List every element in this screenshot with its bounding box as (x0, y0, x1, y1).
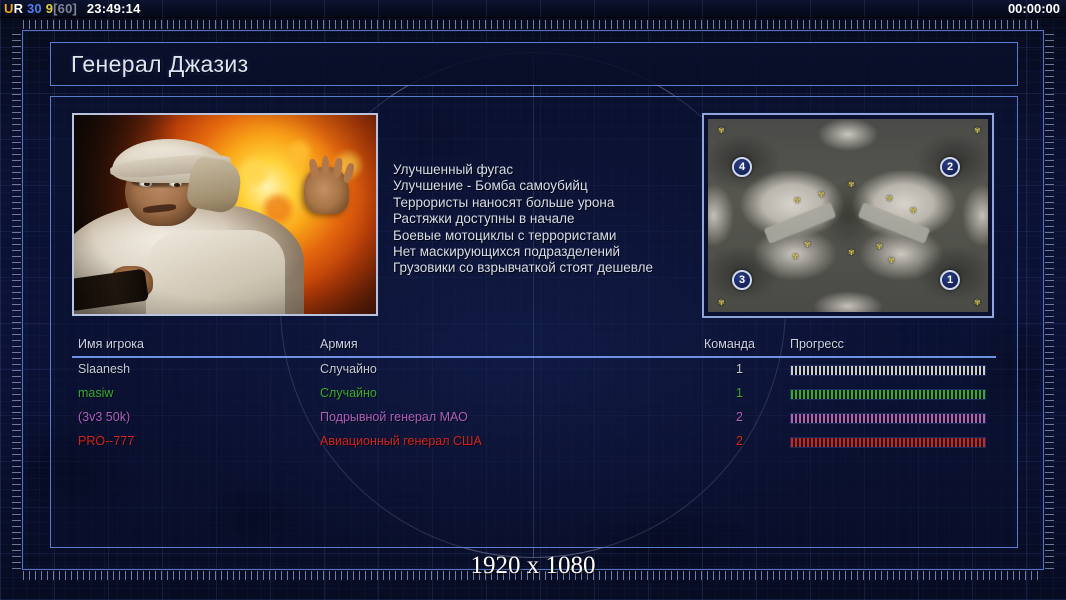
player-row[interactable]: masiwСлучайно1 (72, 382, 996, 406)
player-list-header: Имя игрока Армия Команда Прогресс (72, 336, 996, 358)
supply-icon: ✾ (886, 195, 893, 203)
status-number-30: 30 (27, 1, 42, 16)
page-title: Генерал Джазиз (51, 51, 249, 78)
supply-icon: ✾ (818, 191, 825, 199)
resolution-label: 1920 x 1080 (0, 552, 1066, 580)
ability-line: Нет маскирующихся подразделений (393, 244, 693, 260)
player-team: 2 (736, 410, 743, 424)
portrait-vignette (74, 115, 376, 314)
player-army: Авиационный генерал США (320, 434, 482, 448)
player-row[interactable]: (3v3 50k)Подрывной генерал МАО2 (72, 406, 996, 430)
supply-icon: ✾ (792, 253, 799, 261)
player-progress-bar (790, 437, 986, 448)
minimap-start-position-1[interactable]: 1 (940, 270, 960, 290)
player-team: 1 (736, 386, 743, 400)
player-army: Подрывной генерал МАО (320, 410, 468, 424)
player-progress-bar (790, 365, 986, 376)
supply-icon: ✾ (848, 249, 855, 257)
player-army: Случайно (320, 362, 377, 376)
ability-line: Улучшенный фугас (393, 162, 693, 178)
supply-icon: ✾ (910, 207, 917, 215)
player-list-rows: SlaaneshСлучайно1masiwСлучайно1(3v3 50k)… (72, 358, 996, 454)
supply-icon: ✾ (888, 257, 895, 265)
column-header-team: Команда (704, 337, 755, 351)
player-progress-bar (790, 413, 986, 424)
supply-icon: ✾ (974, 127, 981, 135)
game-lobby-screen: UR 30 9[60] 23:49:14 00:00:00 Генерал Дж… (0, 0, 1066, 600)
supply-icon: ✾ (794, 197, 801, 205)
supply-icon: ✾ (718, 127, 725, 135)
player-name: Slaanesh (78, 362, 130, 376)
status-bar-clock: 00:00:00 (1008, 1, 1066, 16)
minimap-start-position-2[interactable]: 2 (940, 157, 960, 177)
supply-icon: ✾ (974, 299, 981, 307)
player-row[interactable]: PRO--777Авиационный генерал США2 (72, 430, 996, 454)
minimap-preview[interactable]: ✾ ✾ ✾ ✾ ✾ ✾ ✾ ✾ ✾ ✾ ✾ ✾ ✾ ✾ 4 2 3 1 (702, 113, 994, 318)
minimap-start-position-3[interactable]: 3 (732, 270, 752, 290)
status-number-9: 9 (46, 1, 53, 16)
supply-icon: ✾ (848, 181, 855, 189)
player-progress-bar (790, 389, 986, 400)
player-progress-fill (791, 438, 985, 447)
player-progress-fill (791, 390, 985, 399)
status-bar-left: UR 30 9[60] 23:49:14 (0, 1, 141, 16)
ability-line: Террористы наносят больше урона (393, 195, 693, 211)
supply-icon: ✾ (876, 243, 883, 251)
title-panel: Генерал Джазиз (50, 42, 1018, 86)
player-team: 2 (736, 434, 743, 448)
player-row[interactable]: SlaaneshСлучайно1 (72, 358, 996, 382)
status-label-r: R (14, 1, 24, 16)
status-bar: UR 30 9[60] 23:49:14 00:00:00 (0, 0, 1066, 18)
minimap-start-position-4[interactable]: 4 (732, 157, 752, 177)
player-list: Имя игрока Армия Команда Прогресс Slaane… (72, 336, 996, 546)
column-header-name: Имя игрока (78, 337, 144, 351)
player-name: (3v3 50k) (78, 410, 130, 424)
column-header-progress: Прогресс (790, 337, 844, 351)
player-army: Случайно (320, 386, 377, 400)
general-portrait (72, 113, 378, 316)
status-label-u: U (4, 1, 14, 16)
status-elapsed-time: 23:49:14 (87, 1, 141, 16)
player-progress-fill (791, 366, 985, 375)
general-abilities-list: Улучшенный фугас Улучшение - Бомба самоу… (393, 162, 693, 277)
supply-icon: ✾ (718, 299, 725, 307)
status-bracket-60: [60] (53, 1, 77, 16)
player-name: masiw (78, 386, 113, 400)
ability-line: Грузовики со взрывчаткой стоят дешевле (393, 260, 693, 276)
player-name: PRO--777 (78, 434, 134, 448)
supply-icon: ✾ (804, 241, 811, 249)
column-header-army: Армия (320, 337, 358, 351)
player-progress-fill (791, 414, 985, 423)
player-team: 1 (736, 362, 743, 376)
ability-line: Растяжки доступны в начале (393, 211, 693, 227)
general-portrait-art (74, 115, 376, 314)
ability-line: Улучшение - Бомба самоубийц (393, 178, 693, 194)
ability-line: Боевые мотоциклы с террористами (393, 228, 693, 244)
